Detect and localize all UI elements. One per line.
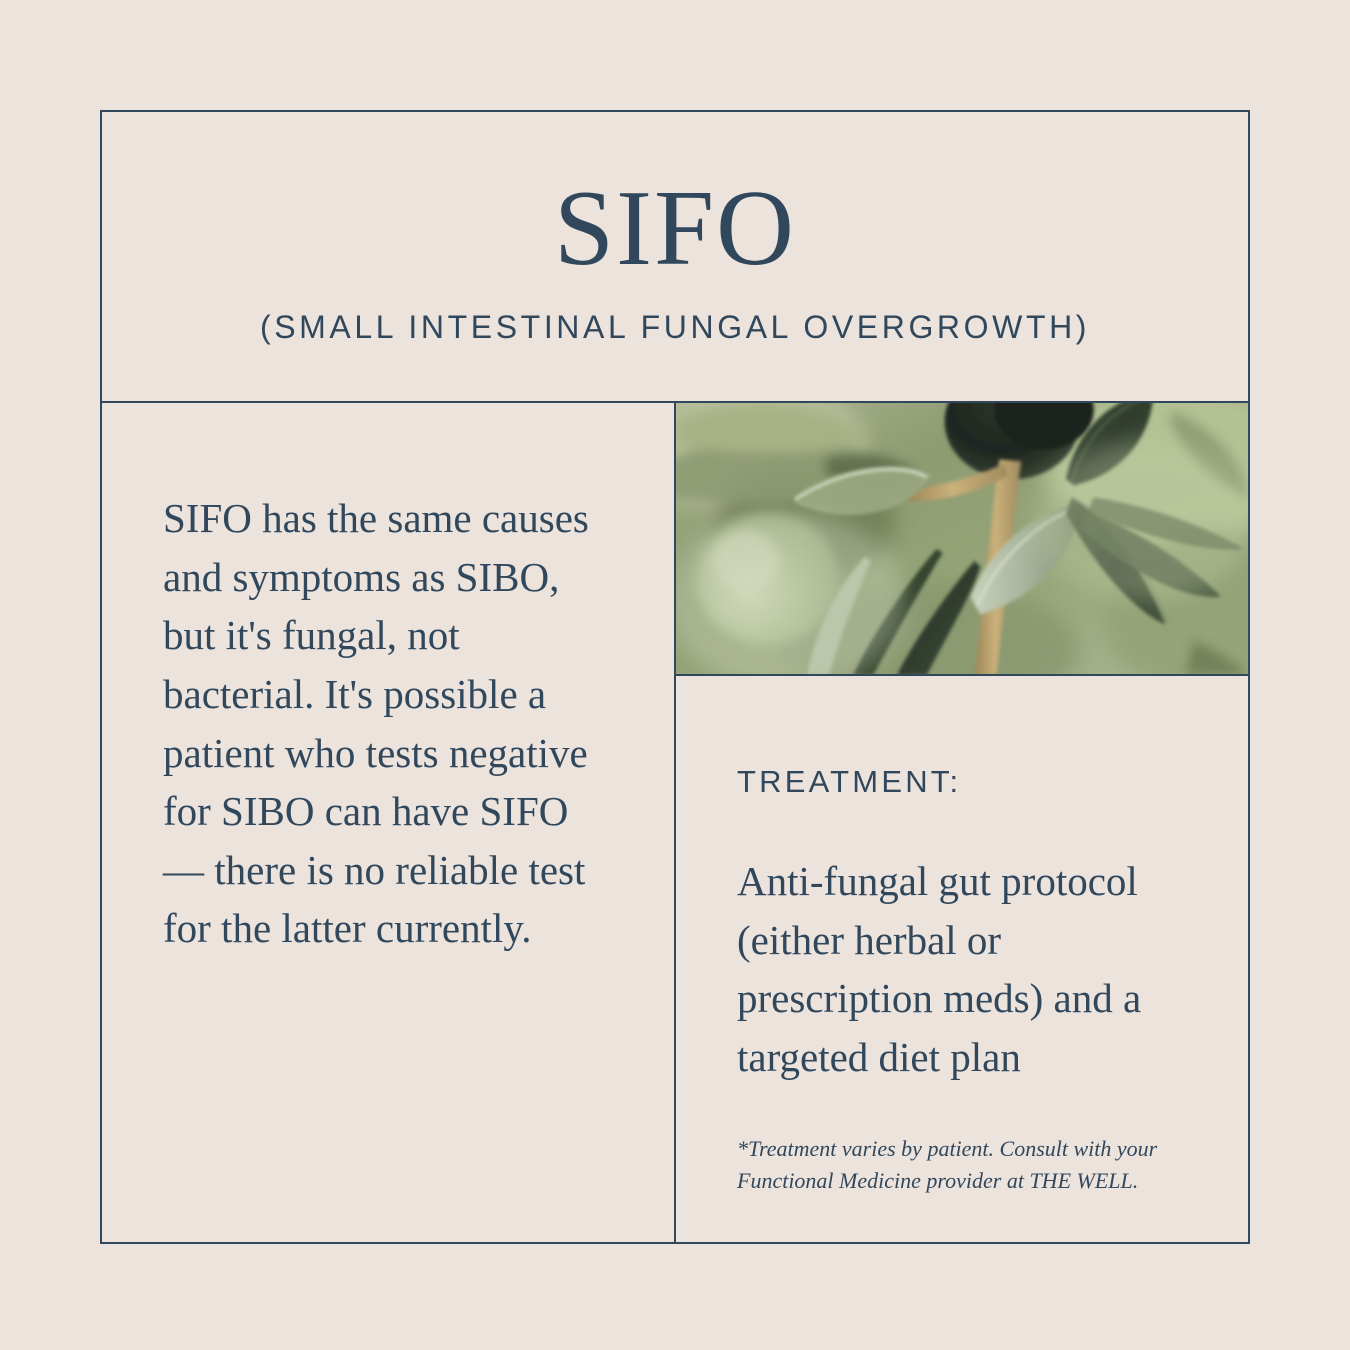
olive-branch-illustration bbox=[676, 403, 1248, 674]
right-column: TREATMENT: Anti-fungal gut protocol (eit… bbox=[676, 403, 1248, 1242]
olive-branch-photo bbox=[676, 403, 1248, 676]
poster-canvas: SIFO (SMALL INTESTINAL FUNGAL OVERGROWTH… bbox=[0, 0, 1350, 1350]
left-column: SIFO has the same causes and symptoms as… bbox=[102, 403, 676, 1242]
body-row: SIFO has the same causes and symptoms as… bbox=[102, 403, 1248, 1242]
treatment-heading: TREATMENT: bbox=[737, 764, 1202, 800]
description-paragraph: SIFO has the same causes and symptoms as… bbox=[163, 489, 615, 958]
treatment-disclaimer: *Treatment varies by patient. Consult wi… bbox=[737, 1133, 1202, 1197]
page-subtitle: (SMALL INTESTINAL FUNGAL OVERGROWTH) bbox=[260, 309, 1090, 346]
header-band: SIFO (SMALL INTESTINAL FUNGAL OVERGROWTH… bbox=[102, 112, 1248, 403]
treatment-panel: TREATMENT: Anti-fungal gut protocol (eit… bbox=[676, 676, 1248, 1242]
page-title: SIFO bbox=[554, 175, 796, 283]
treatment-body: Anti-fungal gut protocol (either herbal … bbox=[737, 852, 1202, 1087]
framed-card: SIFO (SMALL INTESTINAL FUNGAL OVERGROWTH… bbox=[100, 110, 1250, 1244]
